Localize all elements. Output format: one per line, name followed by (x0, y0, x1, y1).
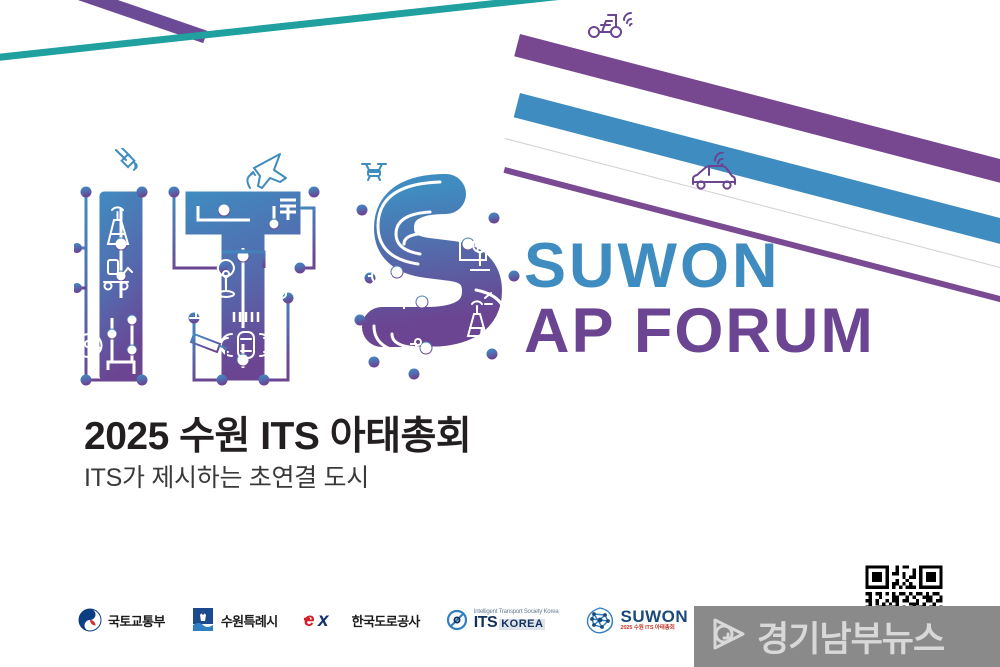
its-korea-its: ITS (474, 615, 497, 631)
suwon-network-icon (585, 606, 615, 634)
poster-root: SUWON AP FORUM 2025 수원 ITS 아태총회 ITS가 제시하… (0, 0, 1000, 667)
event-wordmark: SUWON AP FORUM (524, 236, 875, 362)
sponsor-suwon-congress: SUWON 2025 수원 ITS 아태총회 (585, 600, 689, 640)
teal-stripe (0, 0, 577, 65)
sponsor-its-korea: Intelligent Transport Society Korea ITS … (446, 600, 559, 640)
sponsor-suwon-congress-text: SUWON 2025 수원 ITS 아태총회 (621, 608, 689, 632)
watermark-text: 경기남부뉴스 (757, 611, 944, 662)
sponsor-motie: 국토교통부 (78, 600, 165, 640)
watermark-bar: 경기남부뉴스 (694, 606, 1000, 667)
svg-text:x: x (317, 610, 330, 631)
sponsor-suwon-city: 수원특례시 (191, 600, 278, 640)
its-korea-korea: KOREA (499, 619, 545, 630)
sponsor-ex: e x 한국도로공사 (304, 600, 420, 640)
sponsor-motie-label: 국토교통부 (108, 611, 165, 630)
its-circuit-logo (74, 148, 544, 398)
sponsor-suwon-city-label: 수원특례시 (221, 611, 278, 630)
sponsor-logo-row: 국토교통부 수원특례시 e x 한 (78, 600, 688, 640)
page-subtitle: ITS가 제시하는 초연결 도시 (84, 458, 369, 494)
scooter-icon (584, 3, 646, 47)
sponsor-ex-label: 한국도로공사 (352, 611, 420, 630)
car-icon (687, 152, 745, 196)
sponsor-its-korea-text: Intelligent Transport Society Korea ITS … (474, 609, 559, 631)
wordmark-line-apforum: AP FORUM (524, 301, 875, 362)
ex-logo-icon: e x (304, 609, 346, 631)
taegeuk-icon (78, 608, 102, 632)
suwon-congress-name: SUWON (621, 608, 689, 626)
its-korea-circle-icon (446, 609, 468, 631)
play-g-logo-icon (708, 614, 748, 659)
svg-text:e: e (304, 610, 315, 631)
suwon-city-emblem-icon (191, 607, 215, 633)
suwon-congress-sub: 2025 수원 ITS 아태총회 (621, 626, 689, 632)
page-title: 2025 수원 ITS 아태총회 (84, 405, 471, 461)
wordmark-line-suwon: SUWON (524, 236, 875, 297)
